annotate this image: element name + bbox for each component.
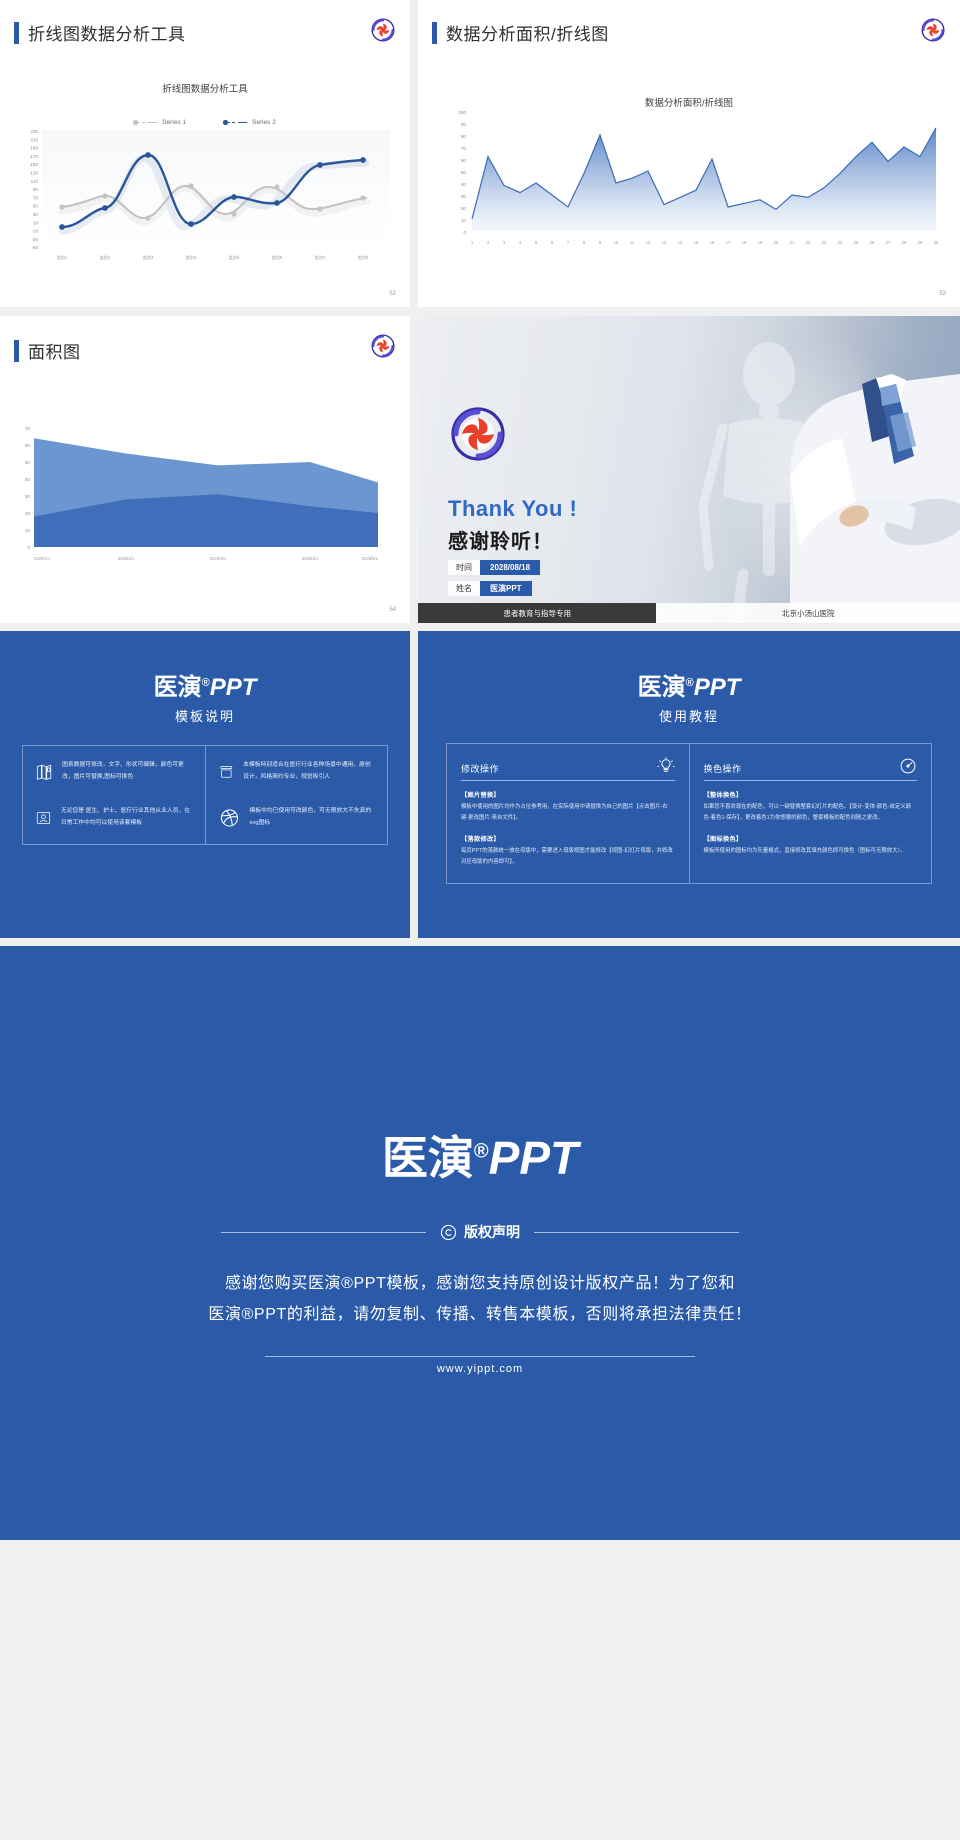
legend-marker-series-2 — [224, 120, 248, 126]
svg-text:23: 23 — [822, 240, 827, 245]
svg-text:类别7: 类别7 — [315, 254, 326, 261]
svg-text:70: 70 — [25, 426, 31, 431]
tutorial-divider — [461, 780, 675, 781]
slide-number: 53 — [939, 291, 946, 297]
slide-area-chart: 面积图 点击此处添加标题 标题数字等都可以通过点击和重新输入进行更改，顶部“开始… — [0, 316, 410, 623]
brand-logo-text: 医演®PPT — [0, 1122, 960, 1188]
brand-registered-mark: ® — [474, 1141, 489, 1163]
divider-bottom — [265, 1356, 695, 1357]
tutorial-section-title: 【图标换色】 — [704, 834, 918, 843]
line-chart-canvas: 230210190 170150130 1109070 503010 -10-3… — [18, 128, 392, 273]
copyright-body-line-2: 医演®PPT的利益，请勿复制、传播、转售本模板，否则将承担法律责任！ — [0, 1299, 960, 1330]
brand-ppt: PPT — [210, 674, 257, 701]
divider-right — [534, 1232, 739, 1233]
svg-text:类别3: 类别3 — [143, 254, 154, 261]
slide-header: 折线图数据分析工具 — [14, 20, 186, 45]
footer-left-label: 患者教育与指导专用 — [418, 603, 656, 623]
area-line-chart-canvas: 1009080 706050 403020 100 1234 5678 9101… — [440, 110, 945, 270]
svg-text:110: 110 — [31, 179, 39, 184]
info-item-4-text: 模板中均已使用可改颜色，可无限放大不失真的svg图标 — [249, 806, 374, 829]
svg-text:17: 17 — [726, 240, 731, 245]
svg-text:24: 24 — [838, 240, 843, 245]
svg-text:19: 19 — [758, 240, 763, 245]
tutorial-section-icon-recolor: 【图标换色】 模板所使用的图标均为矢量格式，直接修改其填充颜色即可换色（图标可无… — [704, 834, 918, 857]
svg-text:类别1: 类别1 — [57, 254, 68, 261]
slide-subtitle: 模板说明 — [0, 706, 410, 725]
footer-right-label: 北京小汤山医院 — [656, 603, 960, 623]
svg-text:4: 4 — [519, 240, 522, 245]
svg-text:类别4: 类别4 — [186, 254, 197, 261]
svg-text:10: 10 — [461, 218, 467, 223]
dribbble-icon — [219, 806, 240, 830]
copyright-label: 版权声明 — [464, 1222, 520, 1242]
palette-icon — [899, 757, 917, 775]
svg-text:8: 8 — [583, 240, 586, 245]
legend-marker-series-1 — [134, 120, 158, 126]
info-item-4: 模板中均已使用可改颜色，可无限放大不失真的svg图标 — [219, 806, 375, 830]
svg-text:15: 15 — [694, 240, 699, 245]
svg-text:60: 60 — [461, 158, 467, 163]
tutorial-section-body: 每页PPT的落款统一放在母版中，需要进入母版视图才能修改【视图-幻灯片母版，并修… — [461, 846, 675, 867]
copyright-heading: 版权声明 — [440, 1222, 520, 1242]
brand-name: 医演 — [382, 1132, 474, 1184]
thank-you-block: Thank You ! 感谢聆听！ 时间 2028/08/18 姓名 医演PPT — [448, 496, 577, 596]
svg-text:50: 50 — [33, 204, 39, 209]
svg-text:2: 2 — [487, 240, 490, 245]
name-field-value[interactable]: 医演PPT — [480, 581, 532, 596]
info-item-2-text: 本模板特别适合在医疗行业各种场景中通用。原创设计，风格简约专业，视觉吸引人 — [243, 760, 374, 783]
date-field: 时间 2028/08/18 — [448, 560, 577, 575]
doctor-figure — [730, 316, 960, 623]
svg-text:2029/2/1: 2029/2/1 — [118, 556, 135, 561]
svg-text:2029/3/1: 2029/3/1 — [210, 556, 227, 561]
header-accent-bar — [14, 22, 19, 44]
tutorial-section-signature-edit: 【落款修改】 每页PPT的落款统一放在母版中，需要进入母版视图才能修改【视图-幻… — [461, 834, 675, 867]
brand-registered-mark: ® — [686, 677, 694, 689]
slide-template-info: 医演®PPT 模板说明 图表数据可修改，文字、形状可编辑，颜色可更改，图片可替换… — [0, 631, 410, 938]
x-axis-labels: 2029/1/1 2029/2/1 2029/3/1 2029/4/1 2029… — [34, 556, 379, 561]
tutorial-column-header: 修改操作 — [461, 757, 675, 775]
page-title: 数据分析面积/折线图 — [446, 20, 609, 45]
slide-tutorial: 医演®PPT 使用教程 修改操作 【图片替换】 模板中使用的图片均作为占位参考用… — [418, 631, 960, 938]
tutorial-section-title: 【整体换色】 — [704, 790, 918, 799]
tutorial-grid: 修改操作 【图片替换】 模板中使用的图片均作为占位参考用，在实际使用中请替换为自… — [446, 743, 932, 884]
svg-text:10: 10 — [33, 220, 39, 225]
info-card-column-left: 图表数据可修改，文字、形状可编辑，颜色可更改，图片可替换,图标可换色 无论您是 … — [23, 746, 205, 844]
svg-text:40: 40 — [461, 182, 467, 187]
svg-text:20: 20 — [461, 206, 467, 211]
header-accent-bar — [14, 340, 19, 362]
svg-text:16: 16 — [710, 240, 715, 245]
svg-text:25: 25 — [854, 240, 859, 245]
slide-header: 数据分析面积/折线图 — [432, 20, 609, 45]
svg-text:9: 9 — [599, 240, 602, 245]
thank-you-chinese: 感谢聆听！ — [448, 525, 577, 554]
svg-text:70: 70 — [33, 195, 39, 200]
tutorial-section-body: 如果您不喜欢现在的配色，可以一键替换整套幻灯片的配色。【设计-变体-颜色-自定义… — [704, 802, 918, 823]
name-field-label: 姓名 — [448, 581, 480, 596]
copyright-icon — [440, 1224, 457, 1241]
svg-text:30: 30 — [461, 194, 467, 199]
brand-logo-text: 医演®PPT — [0, 667, 410, 702]
svg-text:类别8: 类别8 — [358, 254, 369, 261]
svg-text:14: 14 — [678, 240, 683, 245]
svg-text:3: 3 — [503, 240, 506, 245]
svg-text:22: 22 — [806, 240, 811, 245]
date-field-value[interactable]: 2028/08/18 — [480, 560, 540, 575]
box-icon — [219, 760, 234, 784]
info-card-column-right: 本模板特别适合在医疗行业各种场景中通用。原创设计，风格简约专业，视觉吸引人 模板… — [205, 746, 388, 844]
svg-text:12: 12 — [646, 240, 651, 245]
brand-registered-mark: ® — [202, 677, 210, 689]
svg-text:130: 130 — [30, 171, 38, 176]
svg-text:0: 0 — [27, 545, 30, 550]
svg-text:210: 210 — [30, 137, 38, 142]
yippt-logo-icon — [370, 17, 396, 43]
x-axis-labels: 类别1类别2类别3 类别4类别5类别6 类别7类别8 — [57, 254, 369, 261]
svg-text:-30: -30 — [31, 237, 38, 242]
svg-text:170: 170 — [30, 154, 38, 159]
svg-text:2029/5/1: 2029/5/1 — [362, 556, 379, 561]
tutorial-divider — [704, 780, 918, 781]
svg-text:50: 50 — [461, 170, 467, 175]
info-item-3: 无论您是 医生、护士、医疗行业其他从业人员，在日常工作中均可以使用该套模板 — [36, 806, 192, 830]
chart-title-line: 折线图数据分析工具 — [0, 81, 410, 95]
svg-text:27: 27 — [886, 240, 891, 245]
svg-text:26: 26 — [870, 240, 875, 245]
svg-text:类别6: 类别6 — [272, 254, 283, 261]
svg-text:28: 28 — [902, 240, 907, 245]
bulb-icon — [657, 757, 675, 775]
brand-name: 医演 — [154, 674, 202, 701]
svg-text:60: 60 — [25, 443, 31, 448]
svg-text:90: 90 — [33, 187, 39, 192]
svg-text:13: 13 — [662, 240, 667, 245]
divider-left — [221, 1232, 426, 1233]
svg-text:2029/4/1: 2029/4/1 — [302, 556, 319, 561]
copyright-body: 感谢您购买医演®PPT模板，感谢您支持原创设计版权产品！为了您和 医演®PPT的… — [0, 1268, 960, 1330]
svg-text:21: 21 — [790, 240, 795, 245]
tutorial-column-modify: 修改操作 【图片替换】 模板中使用的图片均作为占位参考用，在实际使用中请替换为自… — [447, 744, 689, 883]
copyright-heading-row: 版权声明 — [0, 1222, 960, 1242]
tutorial-column-title: 修改操作 — [461, 762, 499, 775]
svg-text:类别5: 类别5 — [229, 254, 240, 261]
svg-text:90: 90 — [461, 122, 467, 127]
svg-text:-50: -50 — [31, 245, 38, 250]
svg-text:11: 11 — [630, 240, 635, 245]
svg-text:80: 80 — [461, 134, 467, 139]
date-field-label: 时间 — [448, 560, 480, 575]
yippt-logo-icon — [448, 404, 508, 464]
copyright-url[interactable]: www.yippt.com — [0, 1363, 960, 1375]
chart-legend: Series 1 Series 2 — [0, 119, 410, 126]
info-item-1: 图表数据可修改，文字、形状可编辑，颜色可更改，图片可替换,图标可换色 — [36, 760, 192, 784]
svg-text:5: 5 — [535, 240, 538, 245]
svg-text:20: 20 — [25, 511, 31, 516]
svg-text:10: 10 — [614, 240, 619, 245]
user-icon — [36, 806, 51, 830]
info-item-3-text: 无论您是 医生、护士、医疗行业其他从业人员，在日常工作中均可以使用该套模板 — [61, 806, 192, 829]
copyright-body-line-1: 感谢您购买医演®PPT模板，感谢您支持原创设计版权产品！为了您和 — [0, 1268, 960, 1299]
svg-text:20: 20 — [774, 240, 779, 245]
slide-header: 面积图 — [14, 338, 81, 363]
svg-text:150: 150 — [30, 162, 38, 167]
legend-item-series-2: Series 2 — [224, 119, 276, 126]
brand-name: 医演 — [638, 674, 686, 701]
brand-ppt: PPT — [489, 1132, 578, 1184]
x-axis-labels: 1234 5678 9101112 13141516 17181920 2122… — [471, 240, 939, 245]
svg-text:2029/1/1: 2029/1/1 — [34, 556, 51, 561]
copyright-footer-row — [0, 1356, 960, 1357]
page-title: 面积图 — [28, 338, 81, 363]
slide-number: 52 — [389, 291, 396, 297]
legend-item-series-1: Series 1 — [134, 119, 186, 126]
svg-text:50: 50 — [25, 460, 31, 465]
tutorial-section-title: 【图片替换】 — [461, 790, 675, 799]
svg-text:7: 7 — [567, 240, 570, 245]
svg-text:18: 18 — [742, 240, 747, 245]
svg-text:70: 70 — [461, 146, 467, 151]
svg-text:-10: -10 — [31, 229, 38, 234]
book-icon — [36, 760, 52, 784]
info-item-1-text: 图表数据可修改，文字、形状可编辑，颜色可更改，图片可替换,图标可换色 — [62, 760, 191, 783]
slide-area-line-chart: 数据分析面积/折线图 数据分析面积/折线图 10090 — [418, 0, 960, 307]
footer-bar: 患者教育与指导专用 北京小汤山医院 — [418, 603, 960, 623]
svg-text:0: 0 — [463, 230, 466, 235]
slide-thank-you: Thank You ! 感谢聆听！ 时间 2028/08/18 姓名 医演PPT… — [418, 316, 960, 623]
svg-text:230: 230 — [30, 129, 38, 134]
svg-text:30: 30 — [33, 212, 39, 217]
svg-text:190: 190 — [30, 146, 38, 151]
svg-text:30: 30 — [25, 494, 31, 499]
chart-title-area-line: 数据分析面积/折线图 — [418, 95, 960, 109]
tutorial-section-image-replace: 【图片替换】 模板中使用的图片均作为占位参考用，在实际使用中请替换为自己的图片【… — [461, 790, 675, 823]
svg-text:6: 6 — [551, 240, 554, 245]
yippt-logo-icon — [370, 333, 396, 359]
tutorial-section-title: 【落款修改】 — [461, 834, 675, 843]
svg-text:100: 100 — [458, 110, 466, 115]
thank-you-english: Thank You ! — [448, 496, 577, 522]
tutorial-section-body: 模板中使用的图片均作为占位参考用，在实际使用中请替换为自己的图片【点击图片-右键… — [461, 802, 675, 823]
svg-text:类别2: 类别2 — [100, 254, 111, 261]
svg-text:1: 1 — [471, 240, 474, 245]
page-title: 折线图数据分析工具 — [28, 20, 186, 45]
slide-copyright: 医演®PPT 版权声明 感谢您购买医演®PPT模板，感谢您支持原创设计版权产品！… — [0, 946, 960, 1540]
svg-text:29: 29 — [918, 240, 923, 245]
brand-logo-text: 医演®PPT — [418, 667, 960, 702]
svg-text:10: 10 — [25, 528, 31, 533]
legend-label-series-1: Series 1 — [162, 119, 186, 126]
brand-ppt: PPT — [694, 674, 741, 701]
yippt-logo-icon — [920, 17, 946, 43]
slide-line-chart: 折线图数据分析工具 折线图数据分析工具 Series 1 — [0, 0, 410, 307]
header-accent-bar — [432, 22, 437, 44]
tutorial-column-title: 换色操作 — [704, 762, 742, 775]
stacked-area-chart-canvas: 706050 403020 100 2029/1/1 2029/2/1 2029… — [4, 426, 404, 586]
tutorial-column-header: 换色操作 — [704, 757, 918, 775]
svg-text:40: 40 — [25, 477, 31, 482]
slide-number: 54 — [389, 607, 396, 613]
info-card-grid: 图表数据可修改，文字、形状可编辑，颜色可更改，图片可替换,图标可换色 无论您是 … — [22, 745, 388, 845]
tutorial-column-recolor: 换色操作 【整体换色】 如果您不喜欢现在的配色，可以一键替换整套幻灯片的配色。【… — [689, 744, 932, 883]
tutorial-section-global-recolor: 【整体换色】 如果您不喜欢现在的配色，可以一键替换整套幻灯片的配色。【设计-变体… — [704, 790, 918, 823]
info-item-2: 本模板特别适合在医疗行业各种场景中通用。原创设计，风格简约专业，视觉吸引人 — [219, 760, 375, 784]
legend-label-series-2: Series 2 — [252, 119, 276, 126]
tutorial-section-body: 模板所使用的图标均为矢量格式，直接修改其填充颜色即可换色（图标可无限放大）。 — [704, 846, 918, 857]
name-field: 姓名 医演PPT — [448, 581, 577, 596]
slide-subtitle: 使用教程 — [418, 706, 960, 725]
svg-text:30: 30 — [934, 240, 939, 245]
